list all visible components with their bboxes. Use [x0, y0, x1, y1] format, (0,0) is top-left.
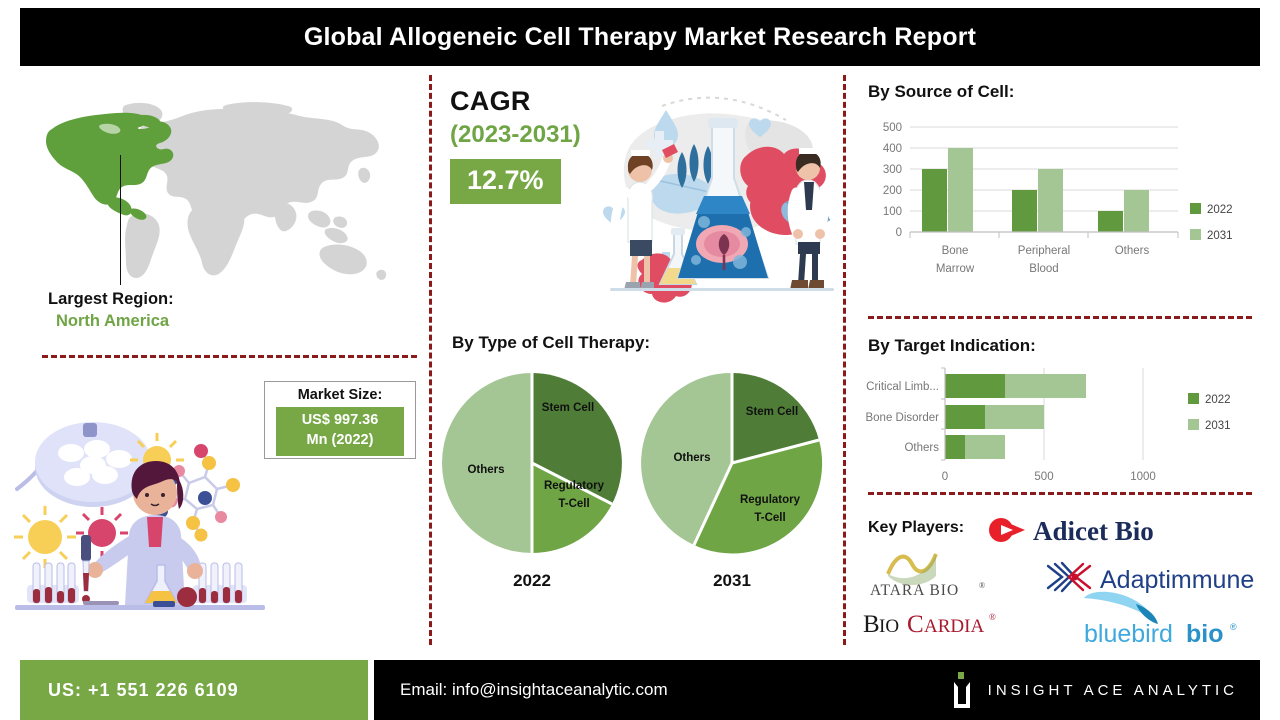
map-pointer-line: [120, 155, 121, 285]
market-size-box: Market Size: US$ 997.36 Mn (2022): [264, 381, 416, 459]
pie-2031-label-regulatory-1: Regulatory: [740, 494, 801, 506]
market-size-value-line2: Mn (2022): [276, 431, 404, 451]
pie-chart-2031: Stem Cell Regulatory T-Cell Others 2031: [632, 363, 832, 591]
infographic-page: Global Allogeneic Cell Therapy Market Re…: [0, 0, 1280, 720]
source-of-cell-title: By Source of Cell:: [868, 82, 1014, 102]
key-players-title: Key Players:: [868, 519, 964, 537]
pie-2031-label-others: Others: [673, 452, 710, 464]
bar-2031-others-indication: [965, 435, 1005, 459]
pie-2031-label-regulatory-2: T-Cell: [754, 512, 785, 524]
pie-chart-2022: Stem Cell Regulatory T-Cell Others 2022: [432, 363, 632, 591]
bar-2031-others: [1124, 190, 1149, 232]
legend-label-2031-indication: 2031: [1205, 420, 1231, 432]
svg-text:®: ®: [989, 612, 996, 622]
bar-2031-peripheral-blood: [1038, 169, 1063, 232]
bio-text: bio: [1186, 620, 1224, 646]
svg-text:®: ®: [1230, 622, 1237, 632]
svg-text:400: 400: [883, 143, 902, 155]
svg-text:500: 500: [883, 122, 902, 134]
biocardia-cardia-text: C: [907, 611, 924, 638]
bar-2022-others: [1098, 211, 1123, 232]
footer-brand-block: INSIGHT ACE ANALYTIC: [948, 660, 1238, 720]
header-bar: Global Allogeneic Cell Therapy Market Re…: [20, 8, 1260, 66]
svg-text:0: 0: [896, 227, 902, 239]
by-source-of-cell-chart: 500 400 300 200 100 0: [860, 110, 1260, 300]
by-target-indication-chart: Critical Limb... Bone Disorder Others 0 …: [855, 362, 1260, 495]
bluebird-bio-logo-icon: bluebird bio ®: [1078, 590, 1258, 646]
svg-text:500: 500: [1034, 471, 1053, 483]
scientist-lab-illustration-icon: [5, 405, 270, 640]
svg-text:Bone: Bone: [942, 245, 969, 257]
footer-phone-block: US: +1 551 226 6109: [20, 660, 368, 720]
legend-swatch-2022: [1190, 203, 1201, 214]
horizontal-divider-right-top: [868, 316, 1252, 319]
svg-text:100: 100: [883, 206, 902, 218]
largest-region-block: Largest Region: North America: [48, 290, 348, 331]
bar-2022-others-indication: [945, 435, 965, 459]
pie-2022-label-regulatory-1: Regulatory: [544, 480, 605, 492]
svg-text:Blood: Blood: [1029, 263, 1058, 275]
pie-charts-group: Stem Cell Regulatory T-Cell Others 2022 …: [432, 363, 832, 618]
legend-swatch-2022-indication: [1188, 393, 1199, 404]
pie-2031-label-stem-cell: Stem Cell: [746, 406, 798, 418]
atara-bio-logo-icon: ATARA BIO ®: [866, 548, 996, 598]
cagr-years: (2023-2031): [450, 121, 581, 149]
adicet-bio-text: Adicet Bio: [1033, 516, 1154, 546]
svg-text:Critical Limb...: Critical Limb...: [866, 381, 939, 393]
biocardia-bio-text: B: [863, 611, 880, 638]
target-indication-title: By Target Indication:: [868, 336, 1036, 356]
bar-2022-bone-disorder: [945, 405, 985, 429]
pie-section-title: By Type of Cell Therapy:: [452, 333, 650, 353]
svg-text:Others: Others: [904, 442, 939, 454]
cagr-label: CAGR: [450, 86, 581, 117]
bar-2022-bone-marrow: [922, 169, 947, 232]
pie-2022-label-others: Others: [467, 464, 504, 476]
legend-swatch-2031: [1190, 229, 1201, 240]
bar-2031-bone-marrow: [948, 148, 973, 232]
cagr-block: CAGR (2023-2031) 12.7%: [450, 86, 581, 204]
svg-text:Peripheral: Peripheral: [1018, 245, 1070, 257]
world-map-icon: [30, 95, 415, 285]
market-size-label: Market Size:: [298, 387, 383, 403]
pie-2022-label-stem-cell: Stem Cell: [542, 402, 594, 414]
largest-region-label: Largest Region:: [48, 290, 348, 309]
largest-region-value: North America: [56, 312, 348, 331]
market-size-value-line1: US$ 997.36: [276, 411, 404, 431]
insight-ace-analytic-logo-icon: [948, 670, 976, 710]
legend-label-2022-indication: 2022: [1205, 394, 1231, 406]
footer-phone-text: US: +1 551 226 6109: [20, 680, 239, 701]
legend-label-2031: 2031: [1207, 230, 1233, 242]
svg-text:Bone Disorder: Bone Disorder: [865, 412, 939, 424]
pie-2022-label-regulatory-2: T-Cell: [558, 498, 589, 510]
legend-swatch-2031-indication: [1188, 419, 1199, 430]
footer-brand-text: INSIGHT ACE ANALYTIC: [988, 682, 1238, 699]
svg-text:Others: Others: [1115, 245, 1150, 257]
svg-text:IO: IO: [879, 616, 899, 637]
legend-label-2022: 2022: [1207, 204, 1233, 216]
svg-text:1000: 1000: [1130, 471, 1156, 483]
atara-bio-text: ATARA BIO: [870, 582, 959, 598]
biocardia-logo-icon: B IO C ARDIA ®: [861, 606, 1011, 640]
footer-email-text: Email: info@insightaceanalytic.com: [374, 680, 668, 700]
svg-text:®: ®: [979, 581, 985, 590]
svg-text:Marrow: Marrow: [936, 263, 975, 275]
page-title: Global Allogeneic Cell Therapy Market Re…: [304, 23, 976, 52]
bar-2031-bone-disorder: [985, 405, 1044, 429]
bar-2031-critical-limb: [1005, 374, 1086, 398]
pie-2022-year: 2022: [432, 571, 632, 591]
laboratory-flask-illustration-icon: [600, 82, 840, 307]
svg-text:300: 300: [883, 164, 902, 176]
bluebird-text: bluebird: [1084, 620, 1173, 646]
footer-bar: Email: info@insightaceanalytic.com INSIG…: [374, 660, 1260, 720]
adicet-bio-logo-icon: Adicet Bio: [985, 512, 1165, 548]
adaptimmune-logo-icon: Adaptimmune: [1044, 560, 1254, 594]
bar-2022-critical-limb: [945, 374, 1005, 398]
cagr-value: 12.7%: [450, 159, 561, 204]
svg-text:0: 0: [942, 471, 948, 483]
svg-text:ARDIA: ARDIA: [924, 616, 984, 637]
market-size-value: US$ 997.36 Mn (2022): [276, 407, 404, 456]
vertical-divider-right: [843, 75, 846, 645]
bar-2022-peripheral-blood: [1012, 190, 1037, 232]
svg-text:200: 200: [883, 185, 902, 197]
horizontal-divider-left: [42, 355, 417, 358]
pie-2031-year: 2031: [632, 571, 832, 591]
